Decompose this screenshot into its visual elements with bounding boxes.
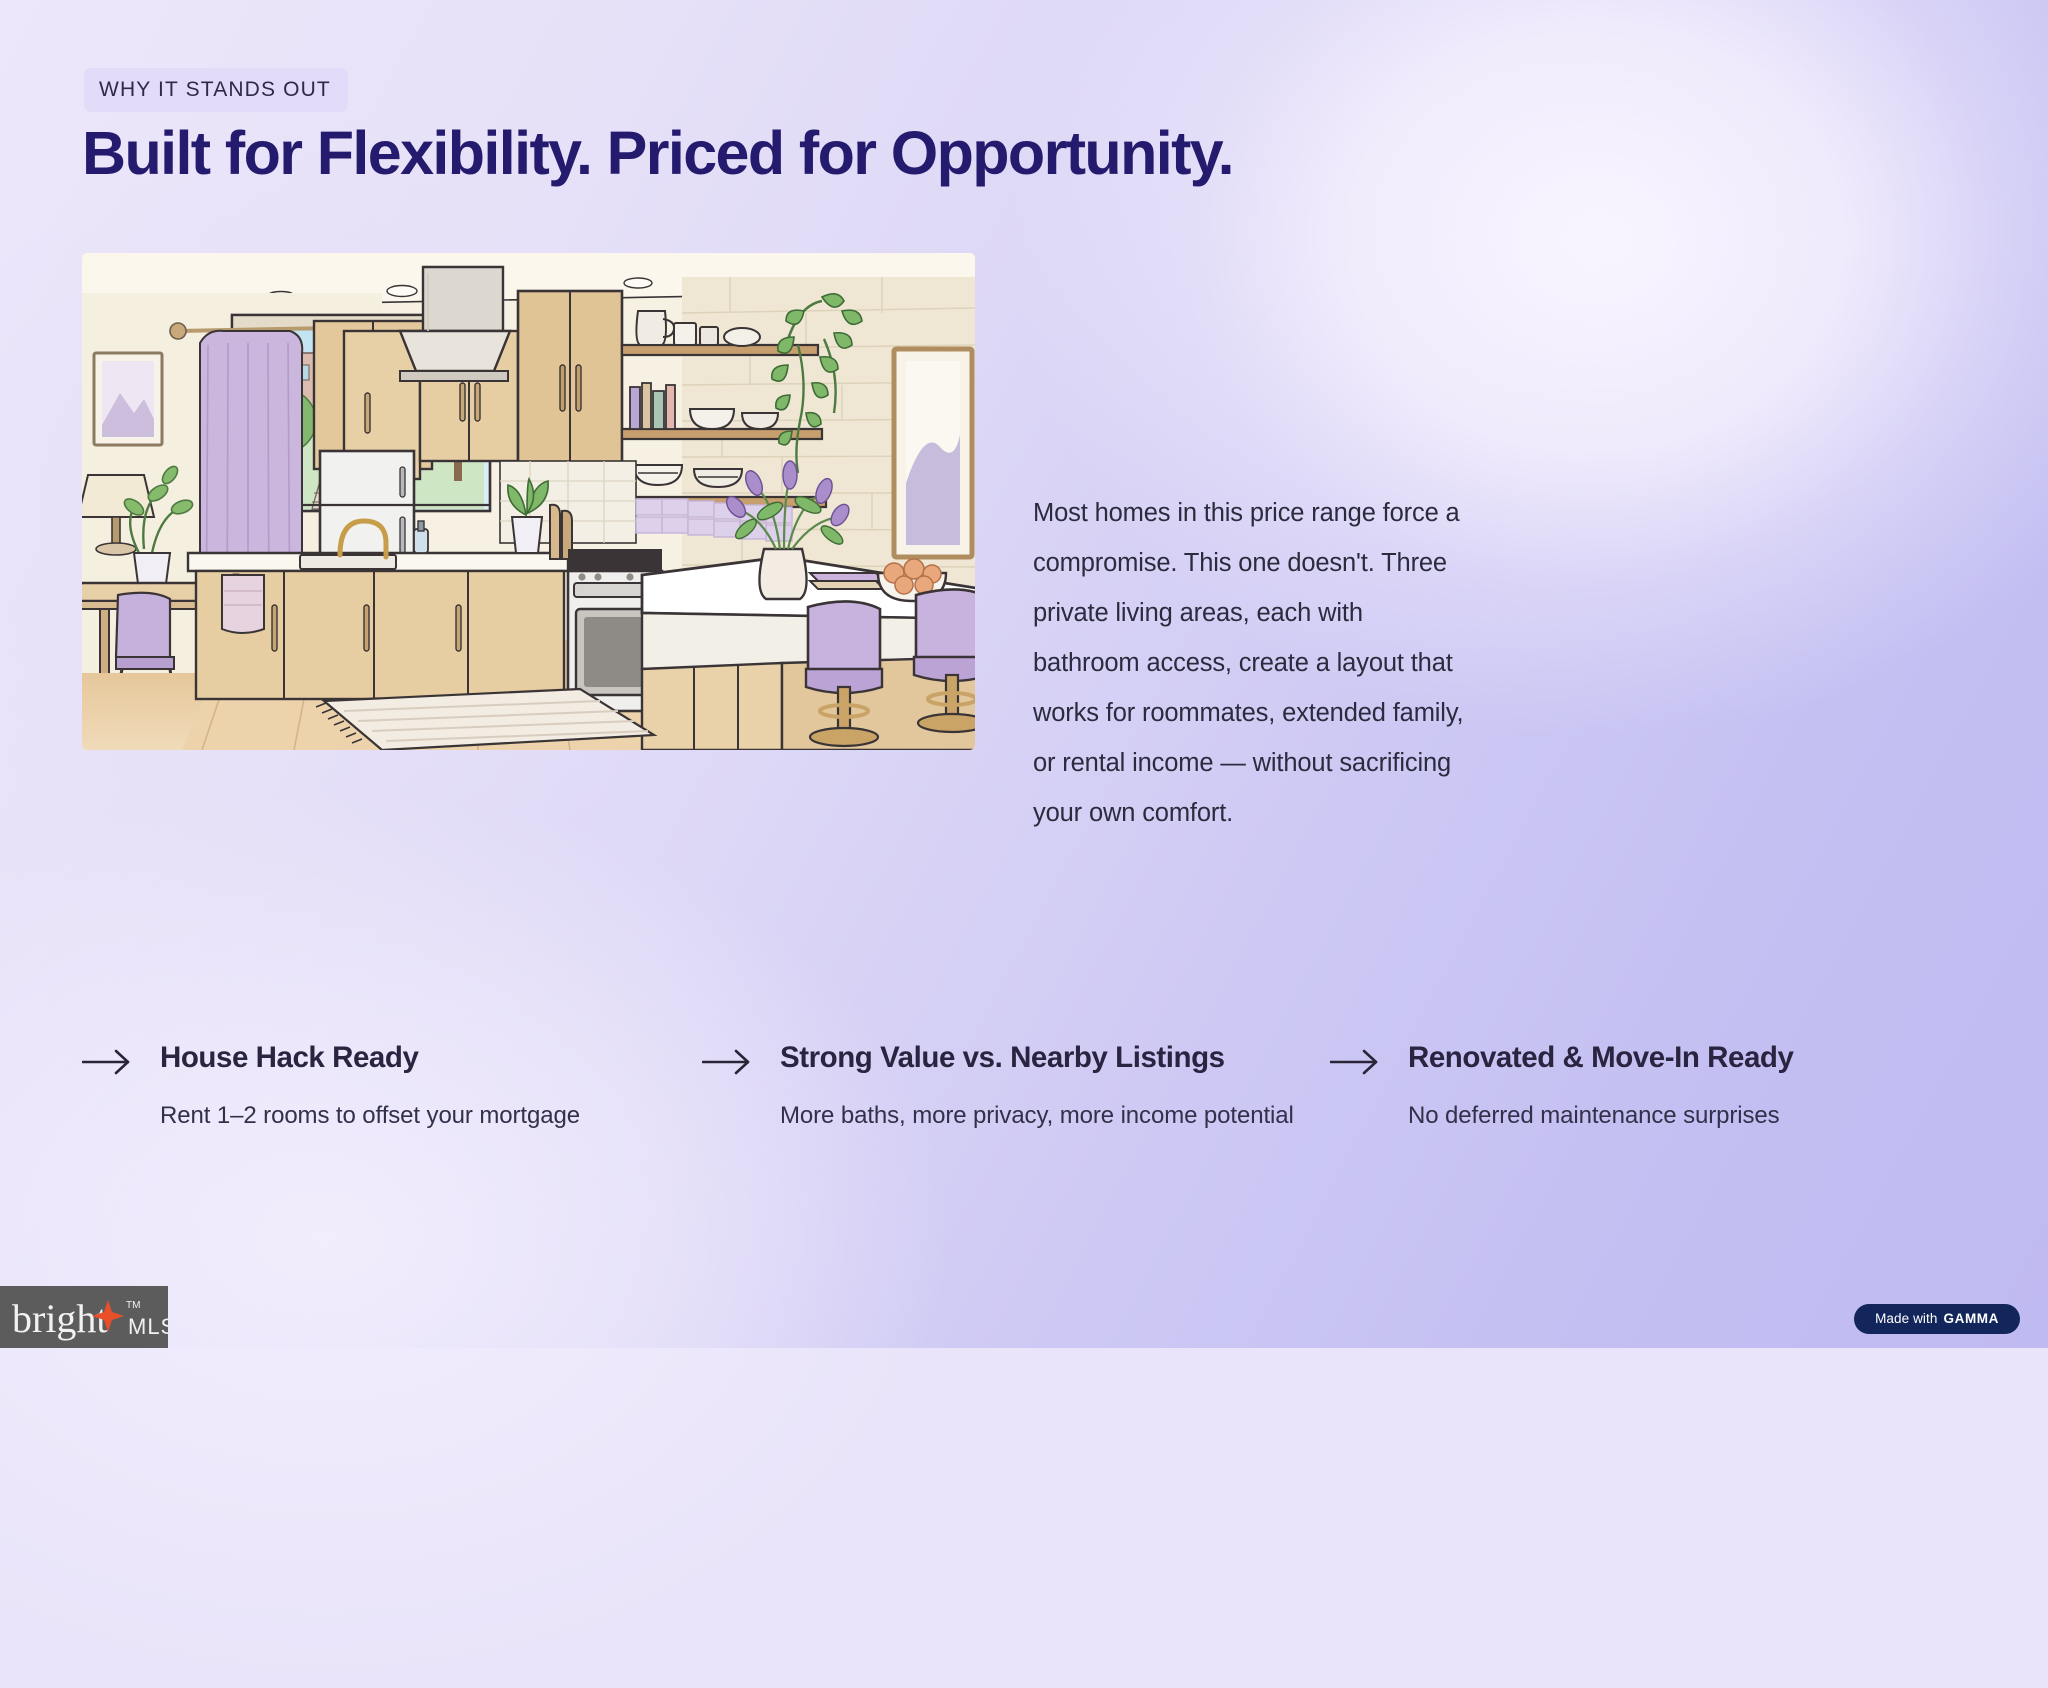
made-with-label: Made with: [1875, 1312, 1937, 1326]
slide-content: WHY IT STANDS OUT Built for Flexibility.…: [0, 0, 2048, 1348]
feature-card[interactable]: Strong Value vs. Nearby Listings More ba…: [702, 1040, 1330, 1135]
feature-card-body: Renovated & Move-In Ready No deferred ma…: [1408, 1040, 1966, 1135]
feature-card-description: More baths, more privacy, more income po…: [780, 1097, 1306, 1136]
feature-card-description: No deferred maintenance surprises: [1408, 1097, 1942, 1136]
feature-card-title: House Hack Ready: [160, 1040, 678, 1077]
svg-text:bright: bright: [12, 1296, 108, 1341]
feature-card-description: Rent 1–2 rooms to offset your mortgage: [160, 1097, 678, 1136]
arrow-right-icon: [82, 1040, 160, 1075]
feature-card[interactable]: House Hack Ready Rent 1–2 rooms to offse…: [82, 1040, 702, 1135]
page-title: Built for Flexibility. Priced for Opport…: [82, 119, 1233, 187]
feature-card[interactable]: Renovated & Move-In Ready No deferred ma…: [1330, 1040, 1966, 1135]
gamma-brand-label: GAMMA: [1944, 1312, 2000, 1326]
svg-text:TM: TM: [126, 1300, 140, 1311]
feature-card-title: Renovated & Move-In Ready: [1408, 1040, 1942, 1077]
eyebrow-label: WHY IT STANDS OUT: [84, 68, 348, 112]
svg-text:MLS: MLS: [128, 1314, 168, 1339]
lead-paragraph: Most homes in this price range force a c…: [1033, 489, 1465, 839]
kitchen-interior-illustration: [82, 253, 975, 750]
feature-card-list: House Hack Ready Rent 1–2 rooms to offse…: [82, 1040, 1966, 1135]
bright-mls-logo: bright TM MLS: [0, 1286, 168, 1348]
feature-card-body: Strong Value vs. Nearby Listings More ba…: [780, 1040, 1330, 1135]
made-with-gamma-badge[interactable]: Made with GAMMA: [1854, 1304, 2020, 1334]
feature-card-title: Strong Value vs. Nearby Listings: [780, 1040, 1306, 1077]
arrow-right-icon: [1330, 1040, 1408, 1075]
feature-card-body: House Hack Ready Rent 1–2 rooms to offse…: [160, 1040, 702, 1135]
arrow-right-icon: [702, 1040, 780, 1075]
